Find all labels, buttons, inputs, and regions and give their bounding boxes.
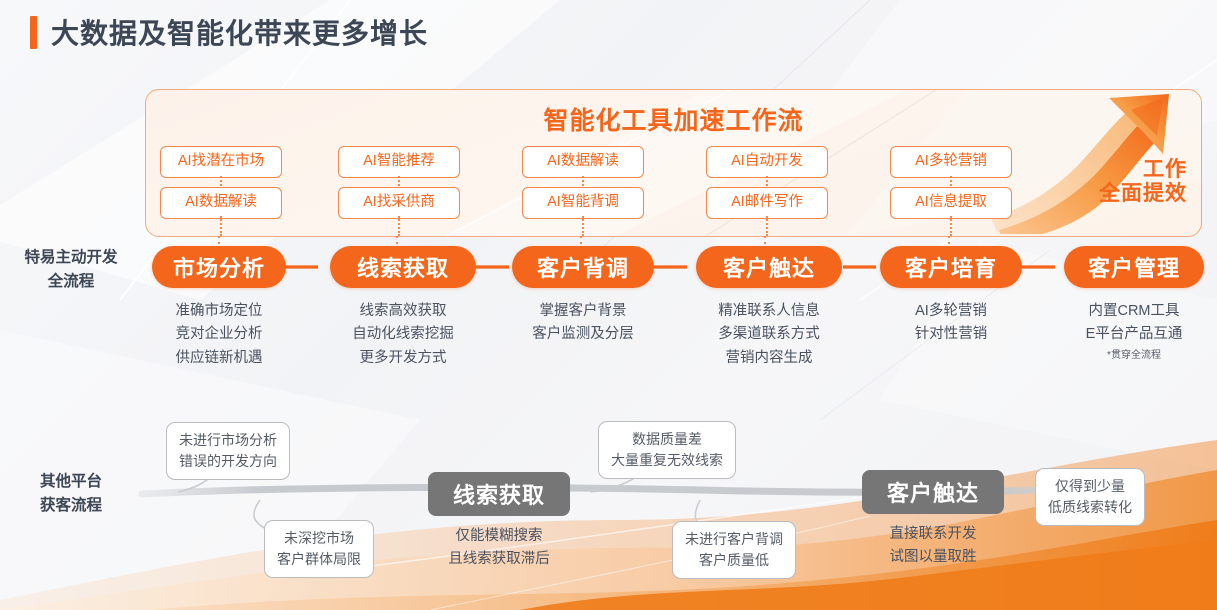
stage-bullets-customer-nurture: AI多轮营销 针对性营销 (871, 300, 1031, 347)
ai-tool-chip[interactable]: AI智能推荐 (338, 146, 460, 178)
stage-pill-customer-reach[interactable]: 客户触达 (696, 246, 842, 288)
problem-line: 数据质量差 (611, 429, 723, 450)
ai-tool-chip[interactable]: AI数据解读 (160, 187, 282, 219)
stage-bullet: 准确市场定位 (139, 300, 299, 323)
other-stage-sub-line: 仅能模糊搜索 (419, 525, 579, 548)
problem-line: 未进行市场分析 (179, 430, 277, 451)
problem-box-low-conversion: 仅得到少量 低质线索转化 (1035, 468, 1145, 526)
ai-tool-chip[interactable]: AI信息提取 (890, 187, 1012, 219)
problem-box-shallow-market: 未深挖市场 客户群体局限 (264, 520, 374, 578)
stage-bullet: 自动化线索挖掘 (323, 323, 483, 346)
problem-line: 未进行客户背调 (685, 529, 783, 550)
stage-bullet: 针对性营销 (871, 323, 1031, 346)
other-stage-pill-customer-reach[interactable]: 客户触达 (862, 470, 1004, 514)
problem-box-no-background-check: 未进行客户背调 客户质量低 (672, 521, 796, 579)
ai-tool-chip[interactable]: AI智能背调 (522, 187, 644, 219)
ai-tool-chip[interactable]: AI多轮营销 (890, 146, 1012, 178)
other-flow-label-line-1: 其他平台 (6, 470, 136, 494)
other-stage-sub-line: 且线索获取滞后 (419, 548, 579, 571)
ai-tool-chip[interactable]: AI数据解读 (522, 146, 644, 178)
problem-box-no-market-analysis: 未进行市场分析 错误的开发方向 (166, 422, 290, 480)
dotted-connector (220, 176, 222, 186)
main-flow-label: 特易主动开发 全流程 (6, 246, 136, 294)
dotted-connector (766, 216, 768, 236)
ai-tool-chip[interactable]: AI邮件写作 (706, 187, 828, 219)
stage-pill-customer-management[interactable]: 客户管理 (1064, 246, 1204, 288)
efficiency-line-2: 全面提效 (1099, 182, 1187, 206)
slide-canvas: 大数据及智能化带来更多增长 智能化工具加速工作流 (0, 0, 1217, 610)
problem-box-poor-data-quality: 数据质量差 大量重复无效线索 (598, 421, 736, 479)
dotted-connector (950, 216, 952, 236)
efficiency-line-1: 工作 (1099, 158, 1187, 182)
other-stage-pill-lead-acquisition[interactable]: 线索获取 (428, 472, 570, 516)
stage-bullets-customer-background: 掌握客户背景 客户监测及分层 (503, 300, 663, 347)
problem-line: 仅得到少量 (1048, 476, 1132, 497)
other-flow-label: 其他平台 获客流程 (6, 470, 136, 518)
problem-line: 客户群体局限 (277, 549, 361, 570)
stage-bullet: 竞对企业分析 (139, 323, 299, 346)
main-flow-label-line-1: 特易主动开发 (6, 246, 136, 270)
stage-bullet: E平台产品互通 (1054, 323, 1214, 346)
main-flow-label-line-2: 全流程 (6, 270, 136, 294)
ai-tool-chip[interactable]: AI自动开发 (706, 146, 828, 178)
problem-line: 错误的开发方向 (179, 451, 277, 472)
dotted-connector (398, 176, 400, 186)
stage-bullets-customer-management: 内置CRM工具 E平台产品互通 *贯穿全流程 (1054, 300, 1214, 364)
title-accent-bar (30, 16, 37, 49)
stage-bullet: 线索高效获取 (323, 300, 483, 323)
problem-line: 大量重复无效线索 (611, 450, 723, 471)
other-flow-label-line-2: 获客流程 (6, 494, 136, 518)
ai-tool-chip[interactable]: AI找采供商 (338, 187, 460, 219)
title-text: 大数据及智能化带来更多增长 (51, 12, 428, 52)
stage-bullet: 供应链新机遇 (139, 347, 299, 370)
stage-bullet: 内置CRM工具 (1054, 300, 1214, 323)
dotted-connector (582, 216, 584, 236)
stage-bullet: 客户监测及分层 (503, 323, 663, 346)
stage-bullets-lead-acquisition: 线索高效获取 自动化线索挖掘 更多开发方式 (323, 300, 483, 370)
stage-pill-customer-nurture[interactable]: 客户培育 (880, 246, 1022, 288)
other-stage-sub-customer-reach: 直接联系开发 试图以量取胜 (853, 523, 1013, 569)
dotted-connector (220, 216, 222, 236)
other-stage-sub-line: 直接联系开发 (853, 523, 1013, 546)
stage-bullet: 更多开发方式 (323, 347, 483, 370)
problem-line: 客户质量低 (685, 550, 783, 571)
stage-bullet: 营销内容生成 (689, 347, 849, 370)
ai-tool-chip[interactable]: AI找潜在市场 (160, 146, 282, 178)
other-stage-sub-lead-acquisition: 仅能模糊搜索 且线索获取滞后 (419, 525, 579, 571)
stage-pill-lead-acquisition[interactable]: 线索获取 (330, 246, 476, 288)
stage-bullet: 精准联系人信息 (689, 300, 849, 323)
stage-bullet: 掌握客户背景 (503, 300, 663, 323)
stage-bullet: AI多轮营销 (871, 300, 1031, 323)
stage-bullet: 多渠道联系方式 (689, 323, 849, 346)
stage-pill-customer-background[interactable]: 客户背调 (512, 246, 654, 288)
stage-footnote: *贯穿全流程 (1054, 348, 1214, 364)
stage-bullets-market-analysis: 准确市场定位 竞对企业分析 供应链新机遇 (139, 300, 299, 370)
efficiency-callout: 工作 全面提效 (1099, 158, 1187, 205)
page-title: 大数据及智能化带来更多增长 (30, 12, 428, 52)
dotted-connector (950, 176, 952, 186)
stage-bullets-customer-reach: 精准联系人信息 多渠道联系方式 营销内容生成 (689, 300, 849, 370)
stage-pill-market-analysis[interactable]: 市场分析 (152, 246, 286, 288)
ai-tools-panel: 智能化工具加速工作流 (145, 89, 1202, 237)
problem-line: 未深挖市场 (277, 528, 361, 549)
other-stage-sub-line: 试图以量取胜 (853, 546, 1013, 569)
problem-line: 低质线索转化 (1048, 497, 1132, 518)
dotted-connector (582, 176, 584, 186)
dotted-connector (398, 216, 400, 236)
dotted-connector (766, 176, 768, 186)
